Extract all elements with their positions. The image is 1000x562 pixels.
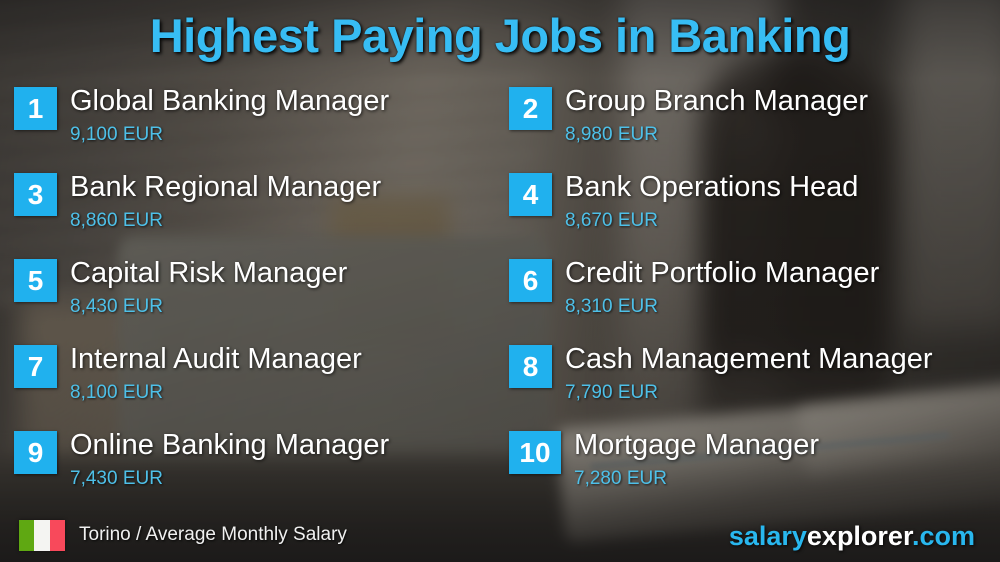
job-title: Capital Risk Manager [70,256,347,288]
rank-badge: 10 [509,431,561,474]
rank-badge: 1 [14,87,57,130]
job-salary: 8,100 EUR [70,383,362,402]
rank-badge: 9 [14,431,57,474]
job-row[interactable]: 8Cash Management Manager7,790 EUR [509,342,933,412]
flag-stripe-green [19,520,34,551]
job-row[interactable]: 1Global Banking Manager9,100 EUR [14,84,389,154]
job-row[interactable]: 2Group Branch Manager8,980 EUR [509,84,868,154]
rank-badge: 3 [14,173,57,216]
content-layer: Highest Paying Jobs in Banking 1Global B… [0,0,1000,562]
rank-badge: 7 [14,345,57,388]
rank-badge: 2 [509,87,552,130]
job-row[interactable]: 5Capital Risk Manager8,430 EUR [14,256,347,326]
job-salary: 7,430 EUR [70,469,389,488]
flag-stripe-white [34,520,49,551]
job-row-text: Group Branch Manager8,980 EUR [565,84,868,144]
job-row[interactable]: 3Bank Regional Manager8,860 EUR [14,170,381,240]
brand-logo[interactable]: salaryexplorer.com [729,521,975,552]
job-salary: 8,980 EUR [565,125,868,144]
job-title: Internal Audit Manager [70,342,362,374]
job-salary: 8,310 EUR [565,297,879,316]
job-salary: 8,670 EUR [565,211,858,230]
job-salary: 7,790 EUR [565,383,933,402]
page-title: Highest Paying Jobs in Banking [0,8,1000,63]
job-salary: 8,860 EUR [70,211,381,230]
job-title: Bank Regional Manager [70,170,381,202]
job-row[interactable]: 9Online Banking Manager7,430 EUR [14,428,389,498]
footer-caption: Torino / Average Monthly Salary [79,524,347,546]
job-row-text: Mortgage Manager7,280 EUR [574,428,819,488]
brand-part-tld: .com [912,521,975,551]
job-salary: 9,100 EUR [70,125,389,144]
job-row-text: Cash Management Manager7,790 EUR [565,342,933,402]
job-row[interactable]: 7Internal Audit Manager8,100 EUR [14,342,362,412]
job-row-text: Bank Regional Manager8,860 EUR [70,170,381,230]
job-row-text: Online Banking Manager7,430 EUR [70,428,389,488]
job-title: Cash Management Manager [565,342,933,374]
job-title: Credit Portfolio Manager [565,256,879,288]
infographic-root: Highest Paying Jobs in Banking 1Global B… [0,0,1000,562]
job-row-text: Bank Operations Head8,670 EUR [565,170,858,230]
rank-badge: 6 [509,259,552,302]
italy-flag-icon [19,520,65,551]
job-row[interactable]: 6Credit Portfolio Manager8,310 EUR [509,256,879,326]
footer-bar: Torino / Average Monthly Salary salaryex… [0,504,1000,562]
job-row-text: Credit Portfolio Manager8,310 EUR [565,256,879,316]
job-title: Online Banking Manager [70,428,389,460]
rank-badge: 4 [509,173,552,216]
job-title: Global Banking Manager [70,84,389,116]
job-title: Bank Operations Head [565,170,858,202]
job-title: Mortgage Manager [574,428,819,460]
job-row-text: Global Banking Manager9,100 EUR [70,84,389,144]
job-row[interactable]: 4Bank Operations Head8,670 EUR [509,170,858,240]
job-salary: 7,280 EUR [574,469,819,488]
brand-part-salary: salary [729,521,807,551]
job-row-text: Internal Audit Manager8,100 EUR [70,342,362,402]
job-row[interactable]: 10Mortgage Manager7,280 EUR [509,428,819,498]
rank-badge: 8 [509,345,552,388]
brand-part-explorer: explorer [807,521,912,551]
rank-badge: 5 [14,259,57,302]
job-salary: 8,430 EUR [70,297,347,316]
job-row-text: Capital Risk Manager8,430 EUR [70,256,347,316]
flag-stripe-red [50,520,65,551]
job-title: Group Branch Manager [565,84,868,116]
